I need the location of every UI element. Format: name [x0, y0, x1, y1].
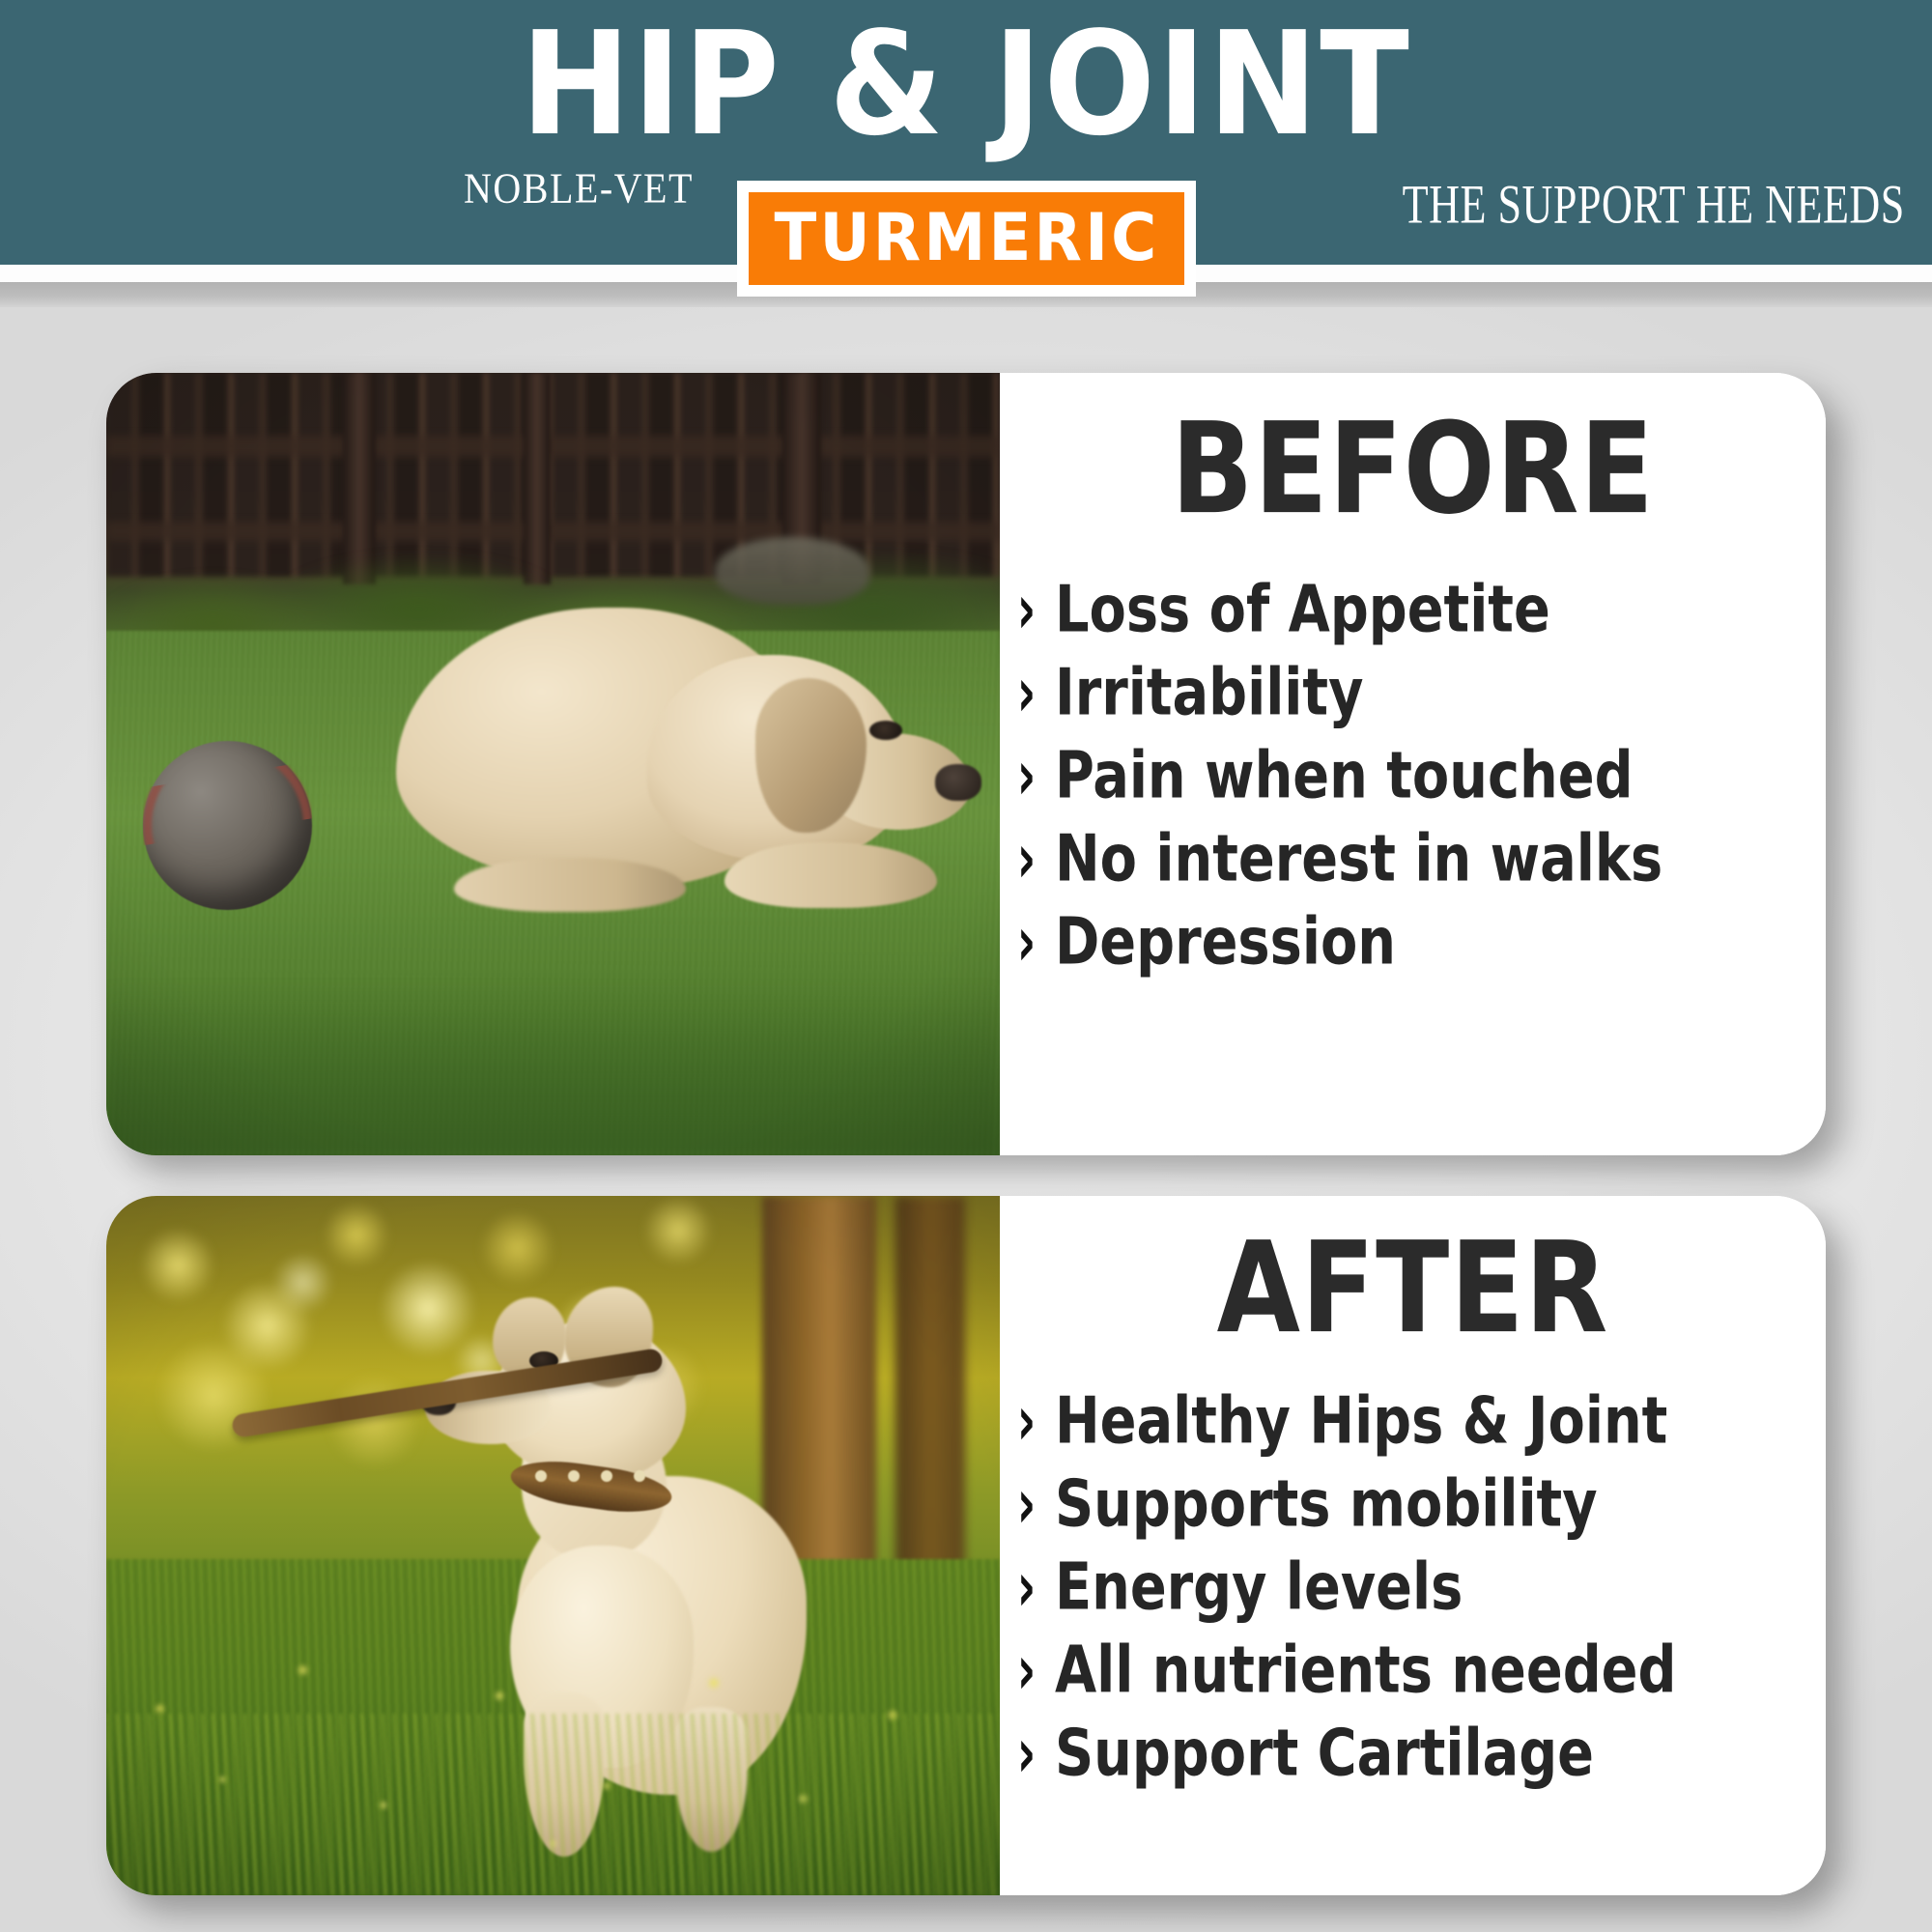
tree-trunk-secondary	[895, 1196, 965, 1602]
collar-stud	[568, 1470, 580, 1482]
list-item-label: All nutrients needed	[1055, 1635, 1676, 1704]
list-item: › No interest in walks	[1000, 827, 1806, 891]
before-heading: BEFORE	[1000, 407, 1826, 532]
after-content: AFTER › Healthy Hips & Joint › Supports …	[1000, 1196, 1826, 1895]
list-item-label: Depression	[1055, 907, 1396, 976]
list-item-label: No interest in walks	[1055, 824, 1662, 893]
chevron-right-icon: ›	[1017, 1552, 1037, 1621]
brand-name: NOBLE-VET	[464, 162, 694, 213]
before-photo	[106, 373, 1000, 1155]
dog-rear-paw	[454, 858, 686, 912]
chevron-right-icon: ›	[1017, 1386, 1037, 1455]
list-item-label: Supports mobility	[1055, 1469, 1598, 1538]
after-bullet-list: › Healthy Hips & Joint › Supports mobili…	[1000, 1389, 1826, 1804]
list-item: › Support Cartilage	[1000, 1721, 1806, 1785]
header-tagline: THE SUPPORT HE NEEDS	[1403, 172, 1905, 236]
before-photo-scene	[106, 373, 1000, 1155]
list-item-label: Energy levels	[1055, 1552, 1463, 1621]
collar-stud	[634, 1470, 645, 1482]
list-item: › Energy levels	[1000, 1555, 1806, 1619]
list-item: › Healthy Hips & Joint	[1000, 1389, 1806, 1453]
list-item: › Pain when touched	[1000, 744, 1806, 808]
fence-rail-upper	[106, 436, 1000, 457]
list-item-label: Pain when touched	[1055, 741, 1634, 810]
after-photo-scene	[106, 1196, 1000, 1895]
turmeric-badge-inner: TURMERIC	[749, 192, 1184, 285]
chevron-right-icon: ›	[1017, 1635, 1037, 1704]
product-infographic-poster: HIP & JOINT NOBLE-VET THE SUPPORT HE NEE…	[0, 0, 1932, 1932]
list-item-label: Support Cartilage	[1055, 1719, 1594, 1787]
chevron-right-icon: ›	[1017, 824, 1037, 893]
list-item: › Supports mobility	[1000, 1472, 1806, 1536]
list-item: › Depression	[1000, 910, 1806, 974]
turmeric-badge: TURMERIC	[737, 181, 1196, 297]
turmeric-badge-label: TURMERIC	[774, 205, 1159, 272]
list-item-label: Loss of Appetite	[1055, 575, 1550, 643]
grass-foreground-blur	[106, 983, 1000, 1155]
before-bullet-list: › Loss of Appetite › Irritability › Pain…	[1000, 578, 1826, 993]
background-rock	[715, 537, 869, 605]
chevron-right-icon: ›	[1017, 575, 1037, 643]
after-card: AFTER › Healthy Hips & Joint › Supports …	[106, 1196, 1826, 1895]
chevron-right-icon: ›	[1017, 1719, 1037, 1787]
dog-nose	[935, 764, 981, 801]
list-item: › All nutrients needed	[1000, 1638, 1806, 1702]
before-card: BEFORE › Loss of Appetite › Irritability…	[106, 373, 1826, 1155]
list-item: › Loss of Appetite	[1000, 578, 1806, 641]
collar-stud	[535, 1470, 547, 1482]
list-item: › Irritability	[1000, 661, 1806, 724]
chevron-right-icon: ›	[1017, 1469, 1037, 1538]
page-title: HIP & JOINT	[0, 12, 1932, 156]
list-item-label: Healthy Hips & Joint	[1055, 1386, 1667, 1455]
chevron-right-icon: ›	[1017, 658, 1037, 726]
grass-foreground-blades	[106, 1714, 1000, 1895]
before-content: BEFORE › Loss of Appetite › Irritability…	[1000, 373, 1826, 1155]
list-item-label: Irritability	[1055, 658, 1363, 726]
after-photo	[106, 1196, 1000, 1895]
after-heading: AFTER	[1000, 1226, 1826, 1351]
collar-stud	[601, 1470, 612, 1482]
chevron-right-icon: ›	[1017, 907, 1037, 976]
chevron-right-icon: ›	[1017, 741, 1037, 810]
